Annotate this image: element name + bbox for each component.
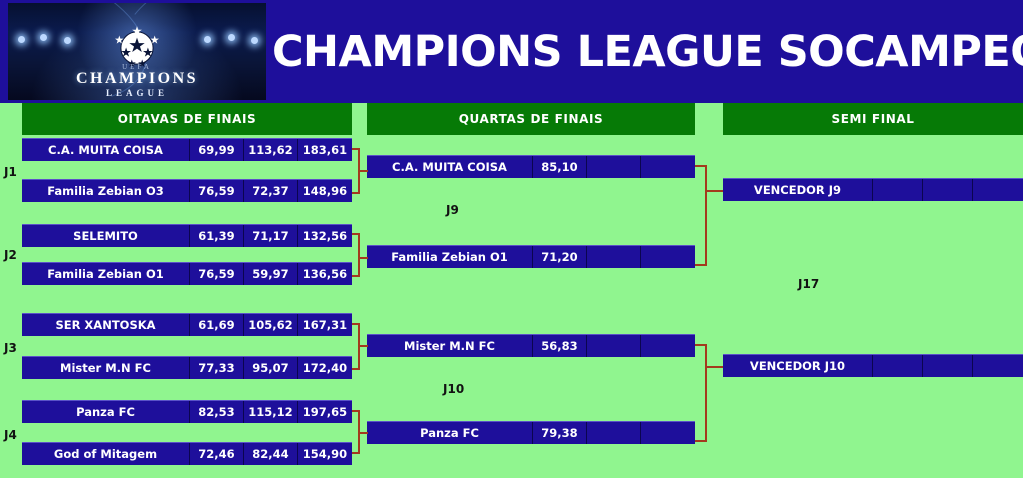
match-id-j17: J17 <box>798 277 819 291</box>
team-score-leg1: 56,83 <box>533 335 587 357</box>
connector-j10-bottom <box>695 440 707 442</box>
team-score-leg2: 59,97 <box>244 263 298 285</box>
team-name: SER XANTOSKA <box>22 314 190 336</box>
team-name: Familia Zebian O3 <box>22 180 190 202</box>
table-row[interactable]: VENCEDOR J10 <box>723 354 1023 377</box>
table-row[interactable]: C.A. MUITA COISA 69,99 113,62 183,61 <box>22 138 352 161</box>
table-row[interactable]: Mister M.N FC 77,33 95,07 172,40 <box>22 356 352 379</box>
team-score-leg2 <box>587 246 641 268</box>
team-score-leg1: 77,33 <box>190 357 244 379</box>
team-score-total: 183,61 <box>298 139 352 161</box>
team-name: SELEMITO <box>22 225 190 247</box>
connector-j9-bottom <box>695 264 707 266</box>
team-score-leg2 <box>923 355 973 377</box>
stadium-light-icon <box>64 37 71 44</box>
team-score-leg1: 61,39 <box>190 225 244 247</box>
table-row[interactable]: God of Mitagem 72,46 82,44 154,90 <box>22 442 352 465</box>
team-score-leg2 <box>587 422 641 444</box>
team-score-leg2 <box>923 179 973 201</box>
stadium-light-icon <box>251 37 258 44</box>
logo-league-text: LEAGUE <box>8 88 266 98</box>
match-id-j9: J9 <box>446 203 459 217</box>
connector-j4-bottom <box>352 452 360 454</box>
champions-league-logo-banner: UEFA CHAMPIONS LEAGUE <box>8 3 266 100</box>
team-score-leg2: 115,12 <box>244 401 298 423</box>
team-score-total: 154,90 <box>298 443 352 465</box>
header-band: UEFA CHAMPIONS LEAGUE CHAMPIONS LEAGUE S… <box>0 0 1023 103</box>
team-score-total: 172,40 <box>298 357 352 379</box>
team-score-total: 197,65 <box>298 401 352 423</box>
team-name: Familia Zebian O1 <box>367 246 533 268</box>
connector-j9-out <box>705 190 723 192</box>
connector-j4-out <box>358 432 368 434</box>
table-row[interactable]: SER XANTOSKA 61,69 105,62 167,31 <box>22 313 352 336</box>
team-score-total: 132,56 <box>298 225 352 247</box>
connector-j9-vertical <box>705 165 707 266</box>
team-score-leg1: 72,46 <box>190 443 244 465</box>
team-name: C.A. MUITA COISA <box>22 139 190 161</box>
team-score-leg1: 76,59 <box>190 180 244 202</box>
team-name: Panza FC <box>22 401 190 423</box>
stadium-light-icon <box>18 36 25 43</box>
team-score-leg2: 72,37 <box>244 180 298 202</box>
team-score-leg1: 71,20 <box>533 246 587 268</box>
table-row[interactable]: VENCEDOR J9 <box>723 178 1023 201</box>
connector-j2-vertical <box>358 233 360 276</box>
stadium-light-icon <box>228 34 235 41</box>
stadium-light-icon <box>204 36 211 43</box>
team-score-leg2: 105,62 <box>244 314 298 336</box>
round-header-semifinal: SEMI FINAL <box>723 103 1023 135</box>
team-score-leg1: 69,99 <box>190 139 244 161</box>
team-score-leg1: 76,59 <box>190 263 244 285</box>
team-score-total: 136,56 <box>298 263 352 285</box>
team-score-leg2: 95,07 <box>244 357 298 379</box>
table-row[interactable]: Mister M.N FC 56,83 <box>367 334 695 357</box>
connector-j10-out <box>705 366 723 368</box>
logo-champions-text: CHAMPIONS <box>8 70 266 88</box>
connector-j1-out <box>358 170 368 172</box>
team-name: Familia Zebian O1 <box>22 263 190 285</box>
team-name: VENCEDOR J9 <box>723 179 873 201</box>
team-score-total <box>641 335 695 357</box>
team-score-leg2 <box>587 156 641 178</box>
team-score-total: 167,31 <box>298 314 352 336</box>
team-score-leg1 <box>873 355 923 377</box>
team-score-leg2 <box>587 335 641 357</box>
team-score-leg2: 113,62 <box>244 139 298 161</box>
team-score-leg1: 85,10 <box>533 156 587 178</box>
connector-j1-bottom <box>352 192 360 194</box>
team-name: Mister M.N FC <box>367 335 533 357</box>
team-score-total: 148,96 <box>298 180 352 202</box>
table-row[interactable]: Panza FC 82,53 115,12 197,65 <box>22 400 352 423</box>
team-name: Panza FC <box>367 422 533 444</box>
team-name: God of Mitagem <box>22 443 190 465</box>
team-score-leg2: 71,17 <box>244 225 298 247</box>
page-title: CHAMPIONS LEAGUE SOCAMPEONATOS <box>272 24 1020 80</box>
match-id-j4: J4 <box>4 428 17 442</box>
table-row[interactable]: C.A. MUITA COISA 85,10 <box>367 155 695 178</box>
table-row[interactable]: Familia Zebian O3 76,59 72,37 148,96 <box>22 179 352 202</box>
team-score-total <box>641 246 695 268</box>
team-name: C.A. MUITA COISA <box>367 156 533 178</box>
round-header-oitavas: OITAVAS DE FINAIS <box>22 103 352 135</box>
connector-j3-bottom <box>352 368 360 370</box>
connector-j3-out <box>358 345 368 347</box>
team-score-leg1: 82,53 <box>190 401 244 423</box>
team-score-total <box>641 422 695 444</box>
match-id-j1: J1 <box>4 165 17 179</box>
team-name: VENCEDOR J10 <box>723 355 873 377</box>
connector-j10-vertical <box>705 344 707 442</box>
connector-j2-out <box>358 257 368 259</box>
team-score-leg1 <box>873 179 923 201</box>
table-row[interactable]: Familia Zebian O1 71,20 <box>367 245 695 268</box>
team-score-leg2: 82,44 <box>244 443 298 465</box>
table-row[interactable]: Familia Zebian O1 76,59 59,97 136,56 <box>22 262 352 285</box>
stadium-light-icon <box>40 34 47 41</box>
match-id-j3: J3 <box>4 341 17 355</box>
team-score-total <box>641 156 695 178</box>
team-score-leg1: 79,38 <box>533 422 587 444</box>
team-score-total <box>973 179 1023 201</box>
round-header-quartas: QUARTAS DE FINAIS <box>367 103 695 135</box>
team-score-leg1: 61,69 <box>190 314 244 336</box>
match-id-j2: J2 <box>4 248 17 262</box>
table-row[interactable]: Panza FC 79,38 <box>367 421 695 444</box>
table-row[interactable]: SELEMITO 61,39 71,17 132,56 <box>22 224 352 247</box>
team-name: Mister M.N FC <box>22 357 190 379</box>
connector-j2-bottom <box>352 275 360 277</box>
match-id-j10: J10 <box>443 382 464 396</box>
team-score-total <box>973 355 1023 377</box>
